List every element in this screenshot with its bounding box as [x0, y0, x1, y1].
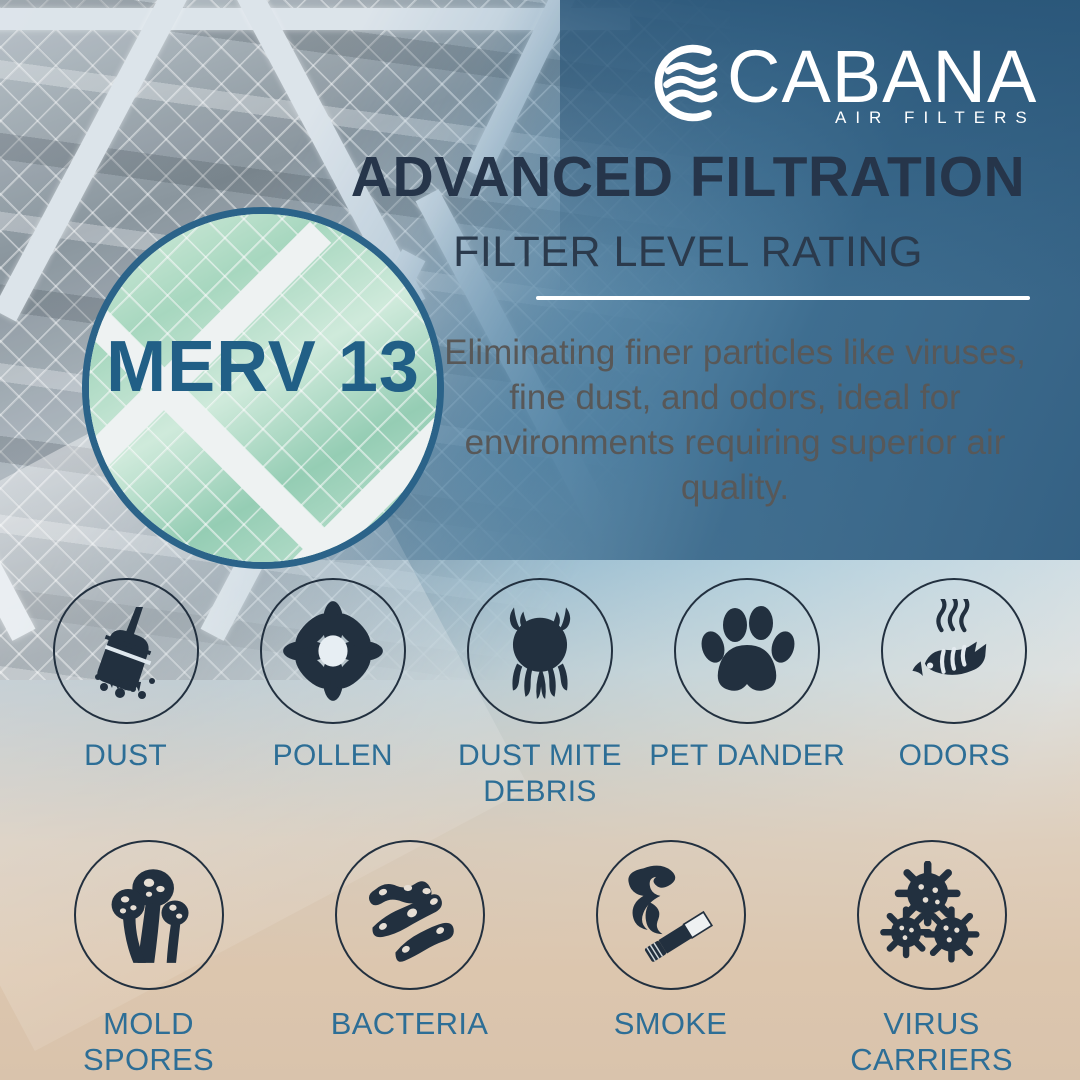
- brand-logo: CABANA AIR FILTERS: [645, 38, 1005, 130]
- filtered-item-label: ODORS: [899, 738, 1011, 774]
- filtered-item-label: PET DANDER: [649, 738, 845, 774]
- infographic-canvas: CABANA AIR FILTERS ADVANCED FILTRATION F…: [0, 0, 1080, 1080]
- virus-icon: [878, 861, 986, 969]
- description-text: Eliminating finer particles like viruses…: [430, 330, 1040, 510]
- icon-bubble: [335, 840, 485, 990]
- merv-rating-badge: MERV 13: [82, 207, 444, 569]
- filtered-item: POLLEN: [233, 578, 433, 774]
- dust-mite-icon: [488, 599, 592, 703]
- icon-bubble: [260, 578, 406, 724]
- icon-bubble: [881, 578, 1027, 724]
- page-subtitle: FILTER LEVEL RATING: [338, 228, 1038, 276]
- filtered-item: SMOKE: [571, 840, 771, 1042]
- icon-bubble: [74, 840, 224, 990]
- mold-spores-icon: [97, 863, 201, 967]
- filtered-item-label: BACTERIA: [331, 1006, 488, 1042]
- cigarette-smoke-icon: [618, 862, 724, 968]
- filtered-item-label: MOLD SPORES: [49, 1006, 249, 1078]
- filtered-items-row-2: MOLD SPORES: [18, 840, 1062, 1078]
- bacteria-icon: [358, 863, 462, 967]
- filtered-item-label: SMOKE: [614, 1006, 727, 1042]
- filtered-item-label: DUST: [84, 738, 167, 774]
- flower-icon: [281, 599, 385, 703]
- icon-bubble: [596, 840, 746, 990]
- icon-bubble: [674, 578, 820, 724]
- cabana-waves-icon: [645, 40, 733, 126]
- icon-bubble: [857, 840, 1007, 990]
- broom-icon: [76, 601, 176, 701]
- filtered-item-label: VIRUS CARRIERS: [832, 1006, 1032, 1078]
- icon-bubble: [467, 578, 613, 724]
- icon-bubble: [53, 578, 199, 724]
- filtered-item-label: DUST MITE DEBRIS: [440, 738, 640, 810]
- filtered-items-row-1: DUST POLLEN: [0, 578, 1080, 810]
- filtered-item: MOLD SPORES: [49, 840, 249, 1078]
- brand-tagline: AIR FILTERS: [835, 108, 1036, 128]
- filtered-item: DUST: [26, 578, 226, 774]
- filtered-item: VIRUS CARRIERS: [832, 840, 1032, 1078]
- merv-rating-label: MERV 13: [89, 326, 437, 408]
- paw-print-icon: [697, 601, 797, 701]
- filtered-item: DUST MITE DEBRIS: [440, 578, 640, 810]
- filtered-item: PET DANDER: [647, 578, 847, 774]
- filtered-item: BACTERIA: [310, 840, 510, 1042]
- filtered-item: ODORS: [854, 578, 1054, 774]
- filtered-item-label: POLLEN: [273, 738, 393, 774]
- page-title: ADVANCED FILTRATION: [338, 146, 1038, 208]
- fish-bone-icon: [902, 599, 1006, 703]
- divider: [536, 296, 1030, 300]
